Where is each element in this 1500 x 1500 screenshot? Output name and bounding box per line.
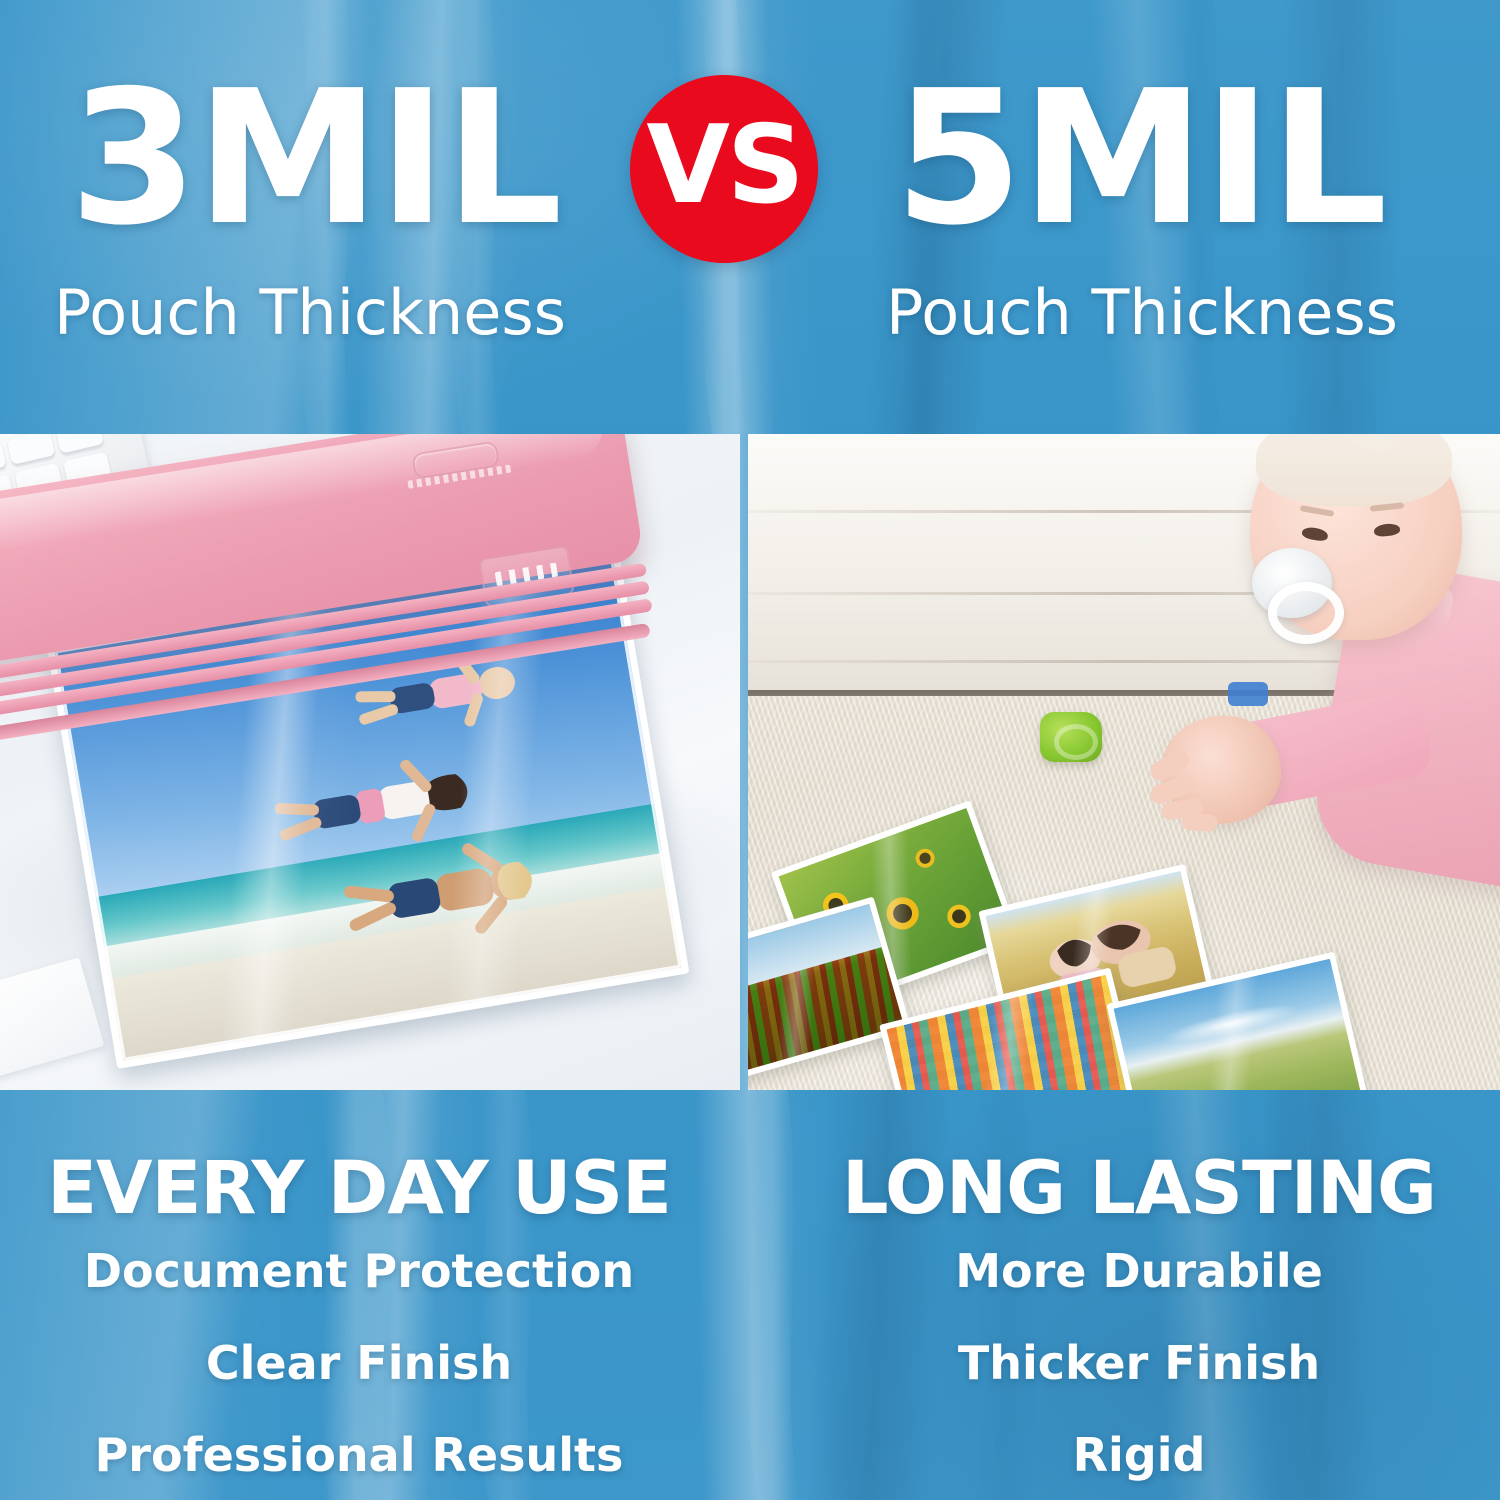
benefits-column-right: LONG LASTING More Durabile Thicker Finis… (760, 1090, 1500, 1500)
photo-left (0, 434, 740, 1090)
header-left-subtitle: Pouch Thickness (0, 282, 740, 344)
header-section: 3MIL Pouch Thickness 5MIL Pouch Thicknes… (0, 0, 1500, 434)
benefit-item: Professional Results (0, 1432, 718, 1478)
pacifier-ring (1268, 582, 1344, 644)
benefits-left-heading: EVERY DAY USE (0, 1152, 740, 1225)
infographic-page: 3MIL Pouch Thickness 5MIL Pouch Thicknes… (0, 0, 1500, 1500)
benefits-left-list: Document Protection Clear Finish Profess… (0, 1248, 740, 1500)
header-right-subtitle: Pouch Thickness (760, 282, 1500, 344)
header-left-title: 3MIL (0, 66, 740, 251)
benefits-section: EVERY DAY USE Document Protection Clear … (0, 1090, 1500, 1500)
green-toy (1040, 712, 1102, 762)
benefits-right-heading: LONG LASTING (760, 1152, 1500, 1225)
baby-hair (1256, 434, 1452, 506)
pacifier (1252, 548, 1350, 626)
baby (1134, 434, 1500, 936)
benefit-item: Clear Finish (0, 1340, 718, 1386)
header-column-right: 5MIL Pouch Thickness (760, 0, 1500, 434)
header-right-title: 5MIL (760, 66, 1500, 251)
vs-badge: VS (630, 75, 818, 263)
photo-section (0, 434, 1500, 1090)
vs-badge-label: VS (646, 112, 801, 220)
header-column-left: 3MIL Pouch Thickness (0, 0, 740, 434)
benefits-column-left: EVERY DAY USE Document Protection Clear … (0, 1090, 740, 1500)
benefit-item: Document Protection (0, 1248, 718, 1294)
photo-right (748, 434, 1500, 1090)
benefits-right-list: More Durabile Thicker Finish Rigid (760, 1248, 1500, 1500)
benefit-item: More Durabile (778, 1248, 1500, 1294)
benefit-item: Thicker Finish (778, 1340, 1500, 1386)
benefit-item: Rigid (778, 1432, 1500, 1478)
